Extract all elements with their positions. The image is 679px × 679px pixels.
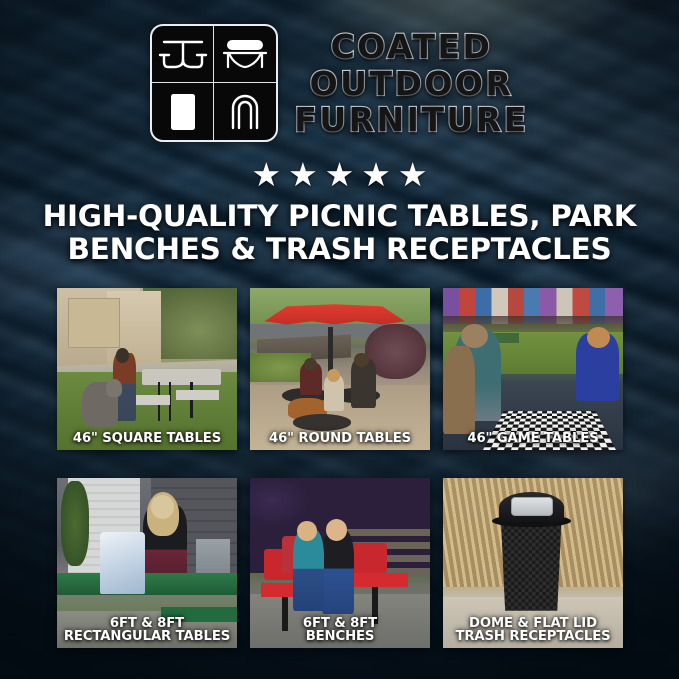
star-rating: ★ ★ ★ ★ ★ [0,158,679,191]
caption-line: RECTANGULAR TABLES [60,630,234,644]
star-icon: ★ [361,158,391,191]
caption-line: BENCHES [253,630,427,644]
tile-image-game-tables [443,288,623,450]
caption-line: 46" GAME TABLES [446,432,620,446]
caption-line: 46" SQUARE TABLES [60,432,234,446]
tile-rectangular-tables[interactable]: 6FT & 8FT RECTANGULAR TABLES [57,478,237,648]
logo-word-furniture: FURNITURE [294,103,528,138]
tile-square-tables[interactable]: 46" SQUARE TABLES [57,288,237,450]
tile-caption-square-tables: 46" SQUARE TABLES [57,432,237,446]
tile-caption-benches: 6FT & 8FT BENCHES [250,617,430,644]
picnic-table-icon [152,26,214,83]
caption-line: 46" ROUND TABLES [253,432,427,446]
tile-image-square-tables [57,288,237,450]
logo-word-coated: COATED [331,30,493,65]
bike-rack-icon [214,83,276,140]
star-icon: ★ [252,158,282,191]
park-bench-icon [214,26,276,83]
tile-trash-receptacles[interactable]: DOME & FLAT LID TRASH RECEPTACLES [443,478,623,648]
star-icon: ★ [398,158,428,191]
tile-caption-game-tables: 46" GAME TABLES [443,432,623,446]
tile-caption-trash-receptacles: DOME & FLAT LID TRASH RECEPTACLES [443,617,623,644]
trash-receptacle-icon [152,83,214,140]
star-icon: ★ [325,158,355,191]
headline-line-1: HIGH-QUALITY PICNIC TABLES, PARK [26,200,653,233]
tile-benches[interactable]: 6FT & 8FT BENCHES [250,478,430,648]
tile-game-tables[interactable]: 46" GAME TABLES [443,288,623,450]
brand-logo: COATED OUTDOOR FURNITURE [0,24,679,142]
logo-icon-grid [150,24,278,142]
caption-line: TRASH RECEPTACLES [446,630,620,644]
tile-caption-round-tables: 46" ROUND TABLES [250,432,430,446]
star-icon: ★ [288,158,318,191]
headline-line-2: BENCHES & TRASH RECEPTACLES [26,233,653,266]
headline: HIGH-QUALITY PICNIC TABLES, PARK BENCHES… [0,200,679,265]
tile-caption-rectangular-tables: 6FT & 8FT RECTANGULAR TABLES [57,617,237,644]
tile-image-round-tables [250,288,430,450]
logo-wordmark: COATED OUTDOOR FURNITURE [294,28,528,139]
logo-word-outdoor: OUTDOOR [310,67,514,102]
product-category-grid: 46" SQUARE TABLES [57,288,623,648]
tile-round-tables[interactable]: 46" ROUND TABLES [250,288,430,450]
